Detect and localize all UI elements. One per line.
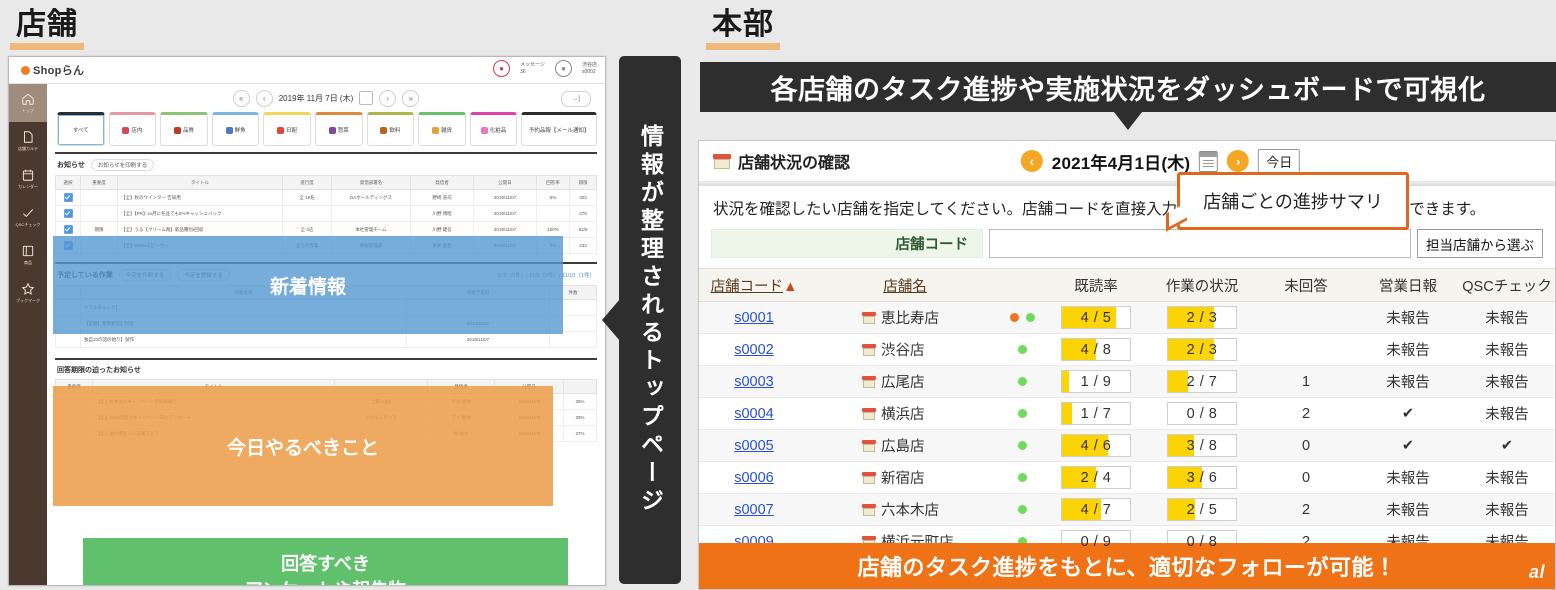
unanswered-cell: [1255, 302, 1357, 334]
daily-report-cell: 未報告: [1357, 334, 1459, 366]
status-dots: [1002, 441, 1042, 450]
category-tab-2[interactable]: 品質: [160, 112, 208, 146]
col-store-code[interactable]: 店舗コード▲: [699, 269, 809, 302]
daily-report-cell: ✔: [1357, 398, 1459, 430]
hq-dashboard-screenshot: 店舗状況の確認 ‹ 2021年4月1日(木) › 今日 状況を確認したい店舗を指…: [698, 140, 1556, 590]
sidebar-item-karte[interactable]: 店舗カルテ: [9, 122, 47, 160]
store-category-tabs: すべて 店内 品質 鮮魚 日配 惣菜 飲料 雑貨 化粧品 予約品報【メール通知】: [47, 112, 605, 152]
qsc-cell: 未報告: [1459, 302, 1555, 334]
category-icon: [226, 127, 233, 134]
row-checkbox[interactable]: [64, 193, 73, 202]
read-rate-bar: 4 / 7: [1061, 498, 1131, 521]
section-title: お知らせ: [57, 160, 85, 170]
work-status-bar: 3 / 8: [1167, 434, 1237, 457]
sidebar-label: ブックマーク: [16, 298, 40, 304]
date-last-button[interactable]: »: [402, 90, 419, 107]
table-row[interactable]: s0001 恵比寿店 4 / 5 2 / 3 未報告 未報告: [699, 302, 1555, 334]
sidebar-label: QSCチェック: [16, 222, 41, 228]
status-dot-green: [1018, 441, 1027, 450]
work-status-bar: 2 / 3: [1167, 338, 1237, 361]
answer-section-header: 回答期限の迫ったお知らせ: [55, 360, 597, 379]
table-row[interactable]: s0004 横浜店 1 / 7 0 / 8 2 ✔ 未報告: [699, 398, 1555, 430]
overlay-answer-line2: アンケートや報告物: [245, 577, 406, 586]
qsc-cell: 未報告: [1459, 398, 1555, 430]
table-header-row: 店舗コード▲ 店舗名 既読率 作業の状況 未回答 営業日報 QSCチェック: [699, 269, 1555, 302]
table-row[interactable]: 【全】【PR】xx月に冬品でも5%キャッシュバック川野 博昭2019/11/07…: [56, 206, 597, 222]
store-code-input[interactable]: [989, 229, 1411, 258]
daily-report-cell: 未報告: [1357, 302, 1459, 334]
store-code-link[interactable]: s0006: [734, 470, 774, 486]
status-dot-green: [1018, 377, 1027, 386]
message-label: メッセージ 36: [520, 62, 545, 76]
sidebar-label: 商品: [24, 260, 32, 266]
status-dots: [1002, 345, 1042, 354]
store-app-logo: Shopらん: [21, 62, 84, 78]
table-row[interactable]: s0007 六本木店 4 / 7 2 / 5 2 未報告 未報告: [699, 494, 1555, 526]
status-dots: [1002, 505, 1042, 514]
category-tab-6[interactable]: 飲料: [367, 112, 415, 146]
col-qsc-check: QSCチェック: [1459, 269, 1555, 302]
store-name: 横浜店: [881, 403, 925, 424]
category-icon: [329, 127, 336, 134]
document-icon: [21, 130, 35, 144]
box-icon: [862, 408, 876, 420]
store-name-cell: 新宿店: [810, 467, 1000, 488]
category-label: 化粧品: [490, 126, 507, 134]
status-dot-green: [1018, 409, 1027, 418]
print-news-button[interactable]: お知らせを印刷する: [91, 159, 154, 171]
table-row[interactable]: s0002 渋谷店 4 / 8 2 / 3 未報告 未報告: [699, 334, 1555, 366]
unanswered-cell: 1: [1255, 366, 1357, 398]
col-store-name[interactable]: 店舗名: [809, 269, 1001, 302]
status-dots: [1002, 377, 1042, 386]
caption-store: 店舗: [10, 8, 84, 50]
col-unanswered: 未回答: [1255, 269, 1357, 302]
user-icon[interactable]: ●: [555, 60, 572, 77]
store-name: 恵比寿店: [881, 307, 939, 328]
read-rate-bar: 1 / 7: [1061, 402, 1131, 425]
news-section-header: お知らせ お知らせを印刷する: [55, 154, 597, 175]
qsc-cell: ✔: [1459, 430, 1555, 462]
table-header-row: 選択 重要度 タイトル 進行度 発信部署名 発信者 公開日 回答率 期限: [56, 176, 597, 190]
calendar-icon[interactable]: [359, 91, 373, 105]
store-name-cell: 横浜店: [810, 403, 1000, 424]
sidebar-item-bookmark[interactable]: ブックマーク: [9, 274, 47, 312]
sidebar-item-qsc[interactable]: QSCチェック: [9, 198, 47, 236]
sidebar-item-calendar[interactable]: カレンダー: [9, 160, 47, 198]
category-label: 品質: [183, 126, 194, 134]
row-checkbox[interactable]: [64, 225, 73, 234]
unanswered-cell: 2: [1255, 398, 1357, 430]
category-tab-1[interactable]: 店内: [109, 112, 157, 146]
check-icon: [21, 206, 35, 220]
category-tab-mail[interactable]: 予約品報【メール通知】: [521, 112, 597, 146]
calendar-icon[interactable]: [1199, 151, 1218, 172]
category-tab-4[interactable]: 日配: [263, 112, 311, 146]
slide-root: 店舗 本部 Shopらん ● メッセージ 36 ● 渋谷店 s0002: [0, 0, 1556, 590]
daily-report-cell: 未報告: [1357, 462, 1459, 494]
store-app-body: トップ 店舗カルテ カレンダー QSCチェック 商品: [9, 84, 605, 586]
category-label: 予約品報【メール通知】: [529, 126, 590, 134]
status-dot-green: [1018, 345, 1027, 354]
qsc-cell: 未報告: [1459, 494, 1555, 526]
next-day-button[interactable]: ›: [1227, 150, 1249, 172]
status-dots: [1002, 473, 1042, 482]
overlay-answer-line1: 回答すべき: [281, 551, 370, 577]
category-label: 店内: [131, 126, 142, 134]
store-code-form: 店舗コード 担当店舗から選ぶ: [711, 229, 1543, 258]
store-date-navigation: « ‹ 2019年 11月 7日 (木) › » →]: [47, 84, 605, 112]
row-checkbox[interactable]: [64, 209, 73, 218]
store-code-link[interactable]: s0005: [734, 438, 774, 454]
overlay-answer-items: 回答すべき アンケートや報告物: [83, 538, 568, 586]
status-dot-orange: [1010, 313, 1019, 322]
section-title: 回答期限の迫ったお知らせ: [57, 365, 141, 375]
work-status-bar: 2 / 7: [1167, 370, 1237, 393]
box-icon: [862, 376, 876, 388]
qsc-cell: 未報告: [1459, 462, 1555, 494]
bell-icon[interactable]: ●: [493, 60, 510, 77]
unanswered-cell: 0: [1255, 462, 1357, 494]
work-status-bar: 2 / 5: [1167, 498, 1237, 521]
category-tab-3[interactable]: 鮮魚: [212, 112, 260, 146]
calendar-icon: [21, 168, 35, 182]
store-name-cell: 六本木店: [810, 499, 1000, 520]
store-name: 新宿店: [881, 467, 925, 488]
box-icon: [862, 504, 876, 516]
read-rate-bar: 4 / 5: [1061, 306, 1131, 329]
store-name: 渋谷店: [881, 339, 925, 360]
hq-header: 店舗状況の確認 ‹ 2021年4月1日(木) › 今日: [699, 141, 1555, 181]
hq-current-date: 2021年4月1日(木): [1052, 149, 1190, 174]
store-name-cell: 広尾店: [810, 371, 1000, 392]
progress-summary-callout: 店舗ごとの進捗サマリ: [1177, 172, 1409, 230]
store-app-account-area: ● メッセージ 36 ● 渋谷店 s0002: [493, 60, 597, 77]
middle-banner-text: 情報が整理されるトップページ: [639, 124, 662, 516]
store-status-table: 店舗コード▲ 店舗名 既読率 作業の状況 未回答 営業日報 QSCチェック s0…: [699, 268, 1555, 558]
hq-banner: 各店舗のタスク進捗や実施状況をダッシュボードで可視化: [700, 62, 1556, 112]
box-icon: [862, 344, 876, 356]
table-row[interactable]: s0005 広島店 4 / 6 3 / 8 0 ✔ ✔: [699, 430, 1555, 462]
prev-day-button[interactable]: ‹: [1021, 150, 1043, 172]
overlay-new-info: 新着情報: [53, 236, 563, 334]
box-icon: [862, 312, 876, 324]
category-tab-7[interactable]: 雑貨: [418, 112, 466, 146]
category-label: 鮮魚: [235, 126, 246, 134]
store-name-cell: 恵比寿店: [810, 307, 1000, 328]
status-dots: [1002, 409, 1042, 418]
read-rate-bar: 1 / 9: [1061, 370, 1131, 393]
hq-date-navigation: ‹ 2021年4月1日(木) › 今日: [1021, 149, 1300, 174]
category-tab-all[interactable]: すべて: [57, 112, 105, 146]
category-label: すべて: [73, 126, 89, 134]
store-name-cell: 広島店: [810, 435, 1000, 456]
daily-report-cell: 未報告: [1357, 494, 1459, 526]
store-code-label: 店舗コード: [711, 229, 983, 258]
date-first-button[interactable]: «: [233, 90, 250, 107]
store-code-link[interactable]: s0001: [734, 310, 774, 326]
table-row[interactable]: s0003 広尾店 1 / 9 2 / 7 1 未報告 未報告: [699, 366, 1555, 398]
sidebar-label: トップ: [22, 108, 34, 114]
sort-arrow-icon: ▲: [783, 279, 797, 295]
store-name: 六本木店: [881, 499, 939, 520]
store-code-link[interactable]: s0007: [734, 502, 774, 518]
sidebar-item-products[interactable]: 商品: [9, 236, 47, 274]
store-name: 広尾店: [881, 371, 925, 392]
date-prev-button[interactable]: ‹: [256, 90, 273, 107]
daily-report-cell: 未報告: [1357, 366, 1459, 398]
hq-footer-text: 店舗のタスク進捗をもとに、適切なフォローが可能！: [858, 550, 1397, 582]
category-icon: [174, 127, 181, 134]
star-icon: [21, 282, 35, 296]
category-label: 飲料: [389, 126, 400, 134]
watermark-logo: al: [1529, 562, 1545, 583]
logout-button[interactable]: →]: [561, 91, 591, 107]
category-icon: [432, 127, 439, 134]
hq-footer-banner: 店舗のタスク進捗をもとに、適切なフォローが可能！ al: [699, 543, 1555, 589]
hq-description: 状況を確認したい店舗を指定してください。店舗コードを直接入力するか、担当店舗から…: [699, 186, 1555, 229]
date-next-button[interactable]: ›: [379, 90, 396, 107]
box-icon: [862, 472, 876, 484]
logo-mark-icon: [21, 66, 30, 75]
unanswered-cell: 2: [1255, 494, 1357, 526]
store-name-cell: 渋谷店: [810, 339, 1000, 360]
unanswered-cell: [1255, 334, 1357, 366]
home-icon: [21, 92, 35, 106]
work-status-bar: 0 / 8: [1167, 402, 1237, 425]
col-read-rate: 既読率: [1043, 269, 1149, 302]
category-icon: [481, 127, 488, 134]
read-rate-bar: 2 / 4: [1061, 466, 1131, 489]
category-icon: [277, 127, 284, 134]
table-row[interactable]: s0006 新宿店 2 / 4 3 / 6 0 未報告 未報告: [699, 462, 1555, 494]
status-dot-green: [1018, 473, 1027, 482]
status-dot-green: [1018, 505, 1027, 514]
book-icon: [21, 244, 35, 258]
store-code-link[interactable]: s0003: [734, 374, 774, 390]
store-app-screenshot: Shopらん ● メッセージ 36 ● 渋谷店 s0002 トップ: [8, 56, 606, 586]
store-code-link[interactable]: s0002: [734, 342, 774, 358]
category-label: 日配: [286, 126, 297, 134]
table-row[interactable]: 【全】秋のウインター 告知用全 19名DAホールディングス野崎 浩司2019/1…: [56, 190, 597, 206]
qsc-cell: 未報告: [1459, 334, 1555, 366]
store-code-link[interactable]: s0004: [734, 406, 774, 422]
category-tab-5[interactable]: 惣菜: [315, 112, 363, 146]
store-status-table-body: s0001 恵比寿店 4 / 5 2 / 3 未報告 未報告 s0002 渋谷店…: [699, 302, 1555, 558]
middle-arrow-banner: 情報が整理されるトップページ: [619, 56, 681, 584]
category-icon: [380, 127, 387, 134]
category-icon: [122, 127, 129, 134]
col-daily-report: 営業日報: [1357, 269, 1459, 302]
unanswered-cell: 0: [1255, 430, 1357, 462]
col-status-dots: [1001, 269, 1043, 302]
work-status-bar: 3 / 6: [1167, 466, 1237, 489]
sidebar-label: カレンダー: [18, 184, 38, 190]
store-current-date: 2019年 11月 7日 (木): [279, 93, 354, 104]
category-tab-8[interactable]: 化粧品: [470, 112, 518, 146]
status-dot-green: [1026, 313, 1035, 322]
overlay-today-tasks: 今日やるべきこと: [53, 386, 553, 506]
today-button[interactable]: 今日: [1258, 149, 1300, 174]
col-work-status: 作業の状況: [1149, 269, 1255, 302]
category-label: 雑貨: [441, 126, 452, 134]
qsc-cell: 未報告: [1459, 366, 1555, 398]
sidebar-label: 店舗カルテ: [18, 146, 38, 152]
daily-report-cell: ✔: [1357, 430, 1459, 462]
status-dots: [1002, 313, 1042, 322]
store-app-topbar: Shopらん ● メッセージ 36 ● 渋谷店 s0002: [9, 57, 605, 84]
caption-hq: 本部: [706, 8, 780, 50]
box-icon: [862, 440, 876, 452]
user-label: 渋谷店 s0002: [582, 62, 597, 76]
sidebar-item-top[interactable]: トップ: [9, 84, 47, 122]
category-label: 惣菜: [338, 126, 349, 134]
work-status-bar: 2 / 3: [1167, 306, 1237, 329]
select-assigned-stores-button[interactable]: 担当店舗から選ぶ: [1417, 229, 1543, 258]
store-app-sidebar: トップ 店舗カルテ カレンダー QSCチェック 商品: [9, 84, 47, 586]
read-rate-bar: 4 / 8: [1061, 338, 1131, 361]
read-rate-bar: 4 / 6: [1061, 434, 1131, 457]
box-icon: [713, 154, 731, 169]
store-name: 広島店: [881, 435, 925, 456]
store-app-main: « ‹ 2019年 11月 7日 (木) › » →] すべて 店内 品質 鮮魚…: [47, 84, 605, 586]
page-title-text: 店舗状況の確認: [738, 149, 850, 173]
page-title: 店舗状況の確認: [713, 149, 850, 173]
